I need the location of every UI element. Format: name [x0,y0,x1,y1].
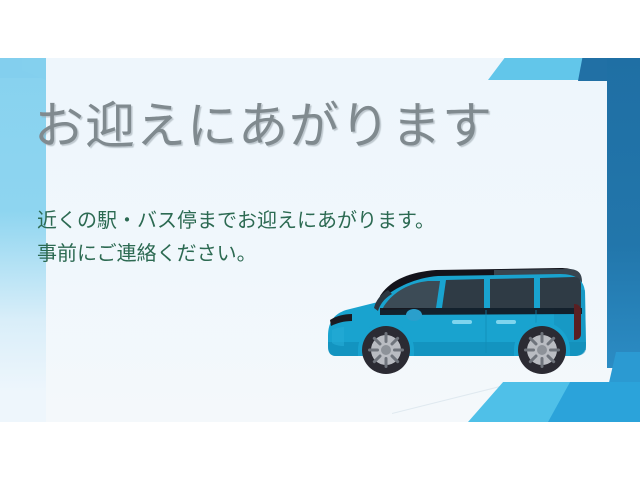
right-edge-accent-strip [607,58,640,368]
car-front-bumper-vent [332,327,344,346]
car-rear-door-handle [496,320,516,324]
car-front-door-window [442,279,484,308]
subtitle-line-1: 近くの駅・バス停までお迎えにあがります。 [37,205,435,238]
car-tail-light [574,304,581,340]
vehicle-pickup-banner: お迎えにあがります 近くの駅・バス停までお迎えにあがります。 事前にご連絡くださ… [0,0,640,480]
car-sliding-door-window [490,278,534,308]
car-side-mirror [406,309,422,321]
car-front-wheel [362,326,410,374]
car-front-door-handle [452,320,472,324]
car-rear-quarter-window [540,277,581,308]
page-title: お迎えにあがります [34,97,493,155]
car-rear-wheel [518,326,566,374]
minivan-car-illustration [318,258,608,378]
